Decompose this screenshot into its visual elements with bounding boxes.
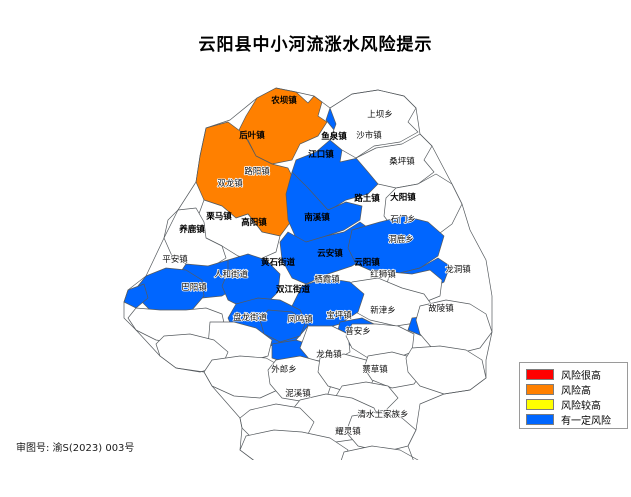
legend-swatch-some (526, 414, 554, 425)
township-label: 南溪镇 (304, 212, 330, 223)
township-label: 路土镇 (354, 193, 380, 204)
township-label: 龙角镇 (316, 349, 342, 360)
township-label: 大阳镇 (390, 192, 416, 203)
township-label: 江口镇 (308, 149, 334, 160)
map-townships-layer (124, 88, 492, 460)
township-label: 人和街道 (214, 269, 249, 280)
township-label: 巴阳镇 (181, 282, 207, 293)
legend-item-very-high: 风险很高 (526, 367, 627, 381)
township-label: 洞鹿乡 (388, 234, 414, 245)
legend-swatch-very-high (526, 369, 554, 380)
township-label: 普安乡 (345, 326, 371, 337)
township-label: 路阳镇 (244, 166, 270, 177)
township-label: 石门乡 (390, 214, 416, 225)
legend-label-fairly-high: 风险较高 (561, 397, 601, 412)
legend: 风险很高 风险高 风险较高 有一定风险 (519, 362, 628, 429)
legend-label-very-high: 风险很高 (561, 367, 601, 382)
township-label: 栖霞镇 (314, 274, 340, 285)
approval-number: 审图号: 渝S(2023) 003号 (16, 439, 134, 454)
township-label: 故陵镇 (428, 303, 454, 314)
legend-label-high: 风险高 (561, 382, 591, 397)
legend-swatch-high (526, 384, 554, 395)
page-title: 云阳县中小河流涨水风险提示 (0, 30, 631, 55)
township-label: 黄石街道 (261, 257, 296, 268)
township-label: 桑坪镇 (389, 156, 415, 167)
township-label: 外郎乡 (271, 364, 297, 375)
township-label: 泥溪镇 (285, 388, 311, 399)
legend-swatch-fairly-high (526, 399, 554, 410)
township-label: 龙洞镇 (445, 264, 471, 275)
legend-label-some: 有一定风险 (561, 412, 611, 427)
township-label: 云阳镇 (354, 257, 380, 268)
township-shape (338, 446, 420, 460)
legend-item-fairly-high: 风险较高 (526, 397, 627, 411)
township-label: 农坝镇 (270, 95, 297, 106)
township-label: 凤鸣镇 (287, 314, 313, 325)
township-label: 盘龙街道 (233, 312, 268, 323)
township-label: 上坝乡 (367, 110, 393, 120)
township-label: 鱼泉镇 (321, 131, 347, 142)
township-label: 沙市镇 (356, 130, 382, 141)
township-label: 新津乡 (370, 305, 396, 316)
township-label: 宝坪镇 (326, 310, 352, 321)
township-label: 蔈草镇 (362, 364, 388, 375)
township-label: 养鹿镇 (178, 224, 205, 235)
township-label: 双江街道 (276, 284, 311, 295)
township-label: 清水土家族乡 (357, 409, 408, 420)
legend-item-some: 有一定风险 (526, 412, 627, 426)
township-label: 后叶镇 (239, 130, 265, 141)
township-label: 耀灵镇 (335, 426, 361, 437)
township-label: 红狮镇 (370, 269, 396, 280)
legend-item-high: 风险高 (526, 382, 627, 396)
township-label: 双龙镇 (217, 178, 243, 189)
township-label: 高阳镇 (241, 217, 267, 228)
township-label: 栗马镇 (205, 211, 232, 222)
township-label: 平安镇 (162, 254, 188, 265)
township-label: 云安镇 (317, 248, 343, 259)
